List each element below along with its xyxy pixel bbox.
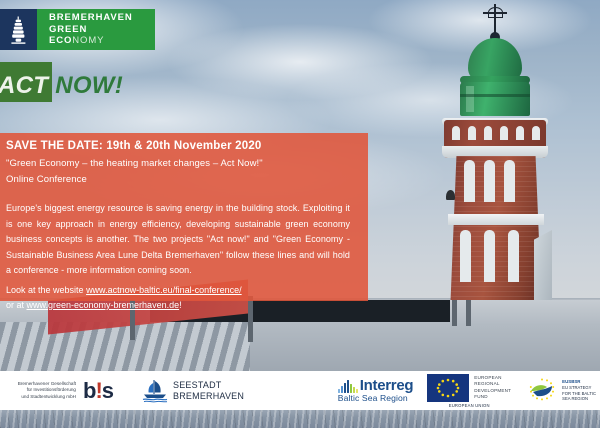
gallery-arch xyxy=(532,126,540,140)
link-or-text: or at xyxy=(6,300,27,310)
eusbsr-wordmark: EUSBSR EU STRATEGY FOR THE BALTIC SEA RE… xyxy=(562,379,596,401)
weather-vane-detail xyxy=(488,7,503,18)
tower-band xyxy=(448,214,544,225)
actnow-baltic-link[interactable]: www.actnow-baltic.eu/final-conference/ xyxy=(86,285,242,295)
panel-links: Look at the website www.actnow-baltic.eu… xyxy=(6,283,358,314)
bis-logo[interactable]: b!s xyxy=(83,380,113,402)
link-tail: ! xyxy=(179,300,182,310)
tower-window xyxy=(508,230,519,282)
lantern-band xyxy=(460,94,530,97)
link-intro-text: Look at the website xyxy=(6,285,86,295)
erdf-line-3: DEVELOPMENT xyxy=(474,388,511,394)
gallery-arch xyxy=(516,126,524,140)
eu-flag-icon xyxy=(427,374,469,402)
bis-logo-s: s xyxy=(102,378,113,403)
bis-descriptor-line-3: und Stadtentwicklung mbH xyxy=(6,394,76,400)
logo-wordmark: BREMERHAVEN GREEN ECONOMY xyxy=(37,9,155,50)
lantern-glass xyxy=(466,86,474,112)
eusbsr-logo[interactable]: EUSBSR EU STRATEGY FOR THE BALTIC SEA RE… xyxy=(525,377,596,405)
erdf-line-4: FUND xyxy=(474,394,511,400)
water-strip xyxy=(0,410,600,428)
bis-descriptor: Bremerhavener Gesellschaft für Investiti… xyxy=(6,381,76,400)
erdf-logo[interactable]: EUROPEAN REGIONAL DEVELOPMENT FUND EUROP… xyxy=(427,374,511,408)
buttress xyxy=(534,230,552,310)
save-the-date-panel: SAVE THE DATE: 19th & 20th November 2020… xyxy=(0,133,368,301)
act-now-word-now: NOW! xyxy=(48,72,123,99)
post xyxy=(452,300,457,326)
gallery-arch xyxy=(484,126,492,140)
seestadt-line-2: BREMERHAVEN xyxy=(173,391,244,402)
tower-window xyxy=(484,230,495,282)
interreg-wordmark: Interreg xyxy=(360,378,413,393)
eusbsr-line-1: EU STRATEGY xyxy=(562,385,596,391)
seestadt-wordmark: SEESTADT BREMERHAVEN xyxy=(173,380,244,402)
panel-subtitle: "Green Economy – the heating market chan… xyxy=(6,158,358,169)
panel-title: SAVE THE DATE: 19th & 20th November 2020 xyxy=(6,140,358,152)
panel-body-text: Europe's biggest energy resource is savi… xyxy=(6,201,358,279)
tower-window xyxy=(504,160,515,202)
post xyxy=(466,300,471,326)
act-now-word-act: ACT xyxy=(0,72,48,99)
interreg-baltic-sea-region-logo[interactable]: Interreg Baltic Sea Region xyxy=(338,378,413,403)
interreg-bars-icon xyxy=(338,380,358,393)
green-economy-link[interactable]: www.green-economy-bremerhaven.de xyxy=(27,300,180,310)
sailing-ship-icon xyxy=(142,379,168,403)
seestadt-bremerhaven-logo[interactable]: SEESTADT BREMERHAVEN xyxy=(142,379,244,403)
tower-window xyxy=(464,160,475,202)
erdf-wordmark: EUROPEAN REGIONAL DEVELOPMENT FUND xyxy=(474,375,511,400)
tower-window xyxy=(484,160,495,202)
poster: BREMERHAVEN GREEN ECONOMY ACT NOW! SAVE … xyxy=(0,0,600,428)
partner-logos-footer: Bremerhavener Gesellschaft für Investiti… xyxy=(0,371,600,410)
logo-line-2-rest: NOMY xyxy=(72,35,104,46)
eu-flag-caption: EUROPEAN UNION xyxy=(449,403,490,408)
gallery-arch xyxy=(500,126,508,140)
logo-line-2: GREEN ECONOMY xyxy=(49,24,141,48)
interreg-subtitle: Baltic Sea Region xyxy=(338,394,413,403)
tower-window xyxy=(460,230,471,282)
footer-left-logos: Bremerhavener Gesellschaft für Investiti… xyxy=(0,379,306,403)
lighthouse-icon xyxy=(0,9,37,50)
green-dome xyxy=(468,38,522,80)
gallery-arch xyxy=(452,126,460,140)
act-now-text: ACT NOW! xyxy=(0,72,123,100)
gallery-arch xyxy=(468,126,476,140)
bis-logo-b: b xyxy=(83,378,95,403)
footer-right-logos: Interreg Baltic Sea Region xyxy=(338,374,600,408)
bell-icon xyxy=(446,190,455,200)
bremerhaven-green-economy-logo[interactable]: BREMERHAVEN GREEN ECONOMY xyxy=(0,9,155,50)
logo-line-1: BREMERHAVEN xyxy=(49,12,141,24)
seestadt-line-1: SEESTADT xyxy=(173,380,244,391)
steps xyxy=(0,322,250,372)
eusbsr-wave-icon xyxy=(525,377,559,405)
panel-subtitle-2: Online Conference xyxy=(6,174,358,185)
eusbsr-line-3: SEA REGION xyxy=(562,396,596,402)
